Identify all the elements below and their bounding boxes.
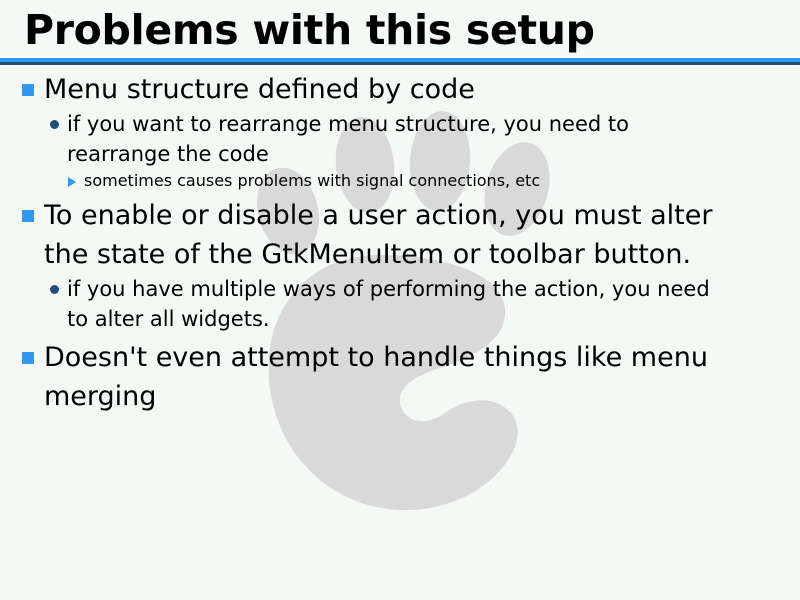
bullet-item-level3: sometimes causes problems with signal co… [0,169,800,192]
bullet-item-level2: if you have multiple ways of performing … [0,274,800,334]
square-bullet-icon [22,210,34,222]
bullet-text: if you have multiple ways of performing … [67,274,717,334]
bullet-item-level1: Doesn't even attempt to handle things li… [0,338,800,416]
square-bullet-icon [22,84,34,96]
bullet-item-level1: Menu structure defined by code [0,70,800,109]
page-title: Problems with this setup [0,0,800,54]
circle-bullet-icon [50,285,59,294]
bullet-text: sometimes causes problems with signal co… [84,169,540,192]
bullet-text: Menu structure defined by code [44,70,475,109]
title-divider-bottom [0,62,800,65]
bullet-text: if you want to rearrange menu structure,… [67,109,717,169]
presentation-slide: Problems with this setup Menu structure … [0,0,800,600]
bullet-text: To enable or disable a user action, you … [44,196,744,274]
bullet-item-level1: To enable or disable a user action, you … [0,196,800,274]
bullet-text: Doesn't even attempt to handle things li… [44,338,744,416]
slide-title-area: Problems with this setup [0,0,800,54]
bullet-item-level2: if you want to rearrange menu structure,… [0,109,800,169]
triangle-bullet-icon [68,177,76,187]
square-bullet-icon [22,352,34,364]
slide-content: Menu structure defined by code if you wa… [0,70,800,416]
circle-bullet-icon [50,120,59,129]
title-divider [0,58,800,65]
